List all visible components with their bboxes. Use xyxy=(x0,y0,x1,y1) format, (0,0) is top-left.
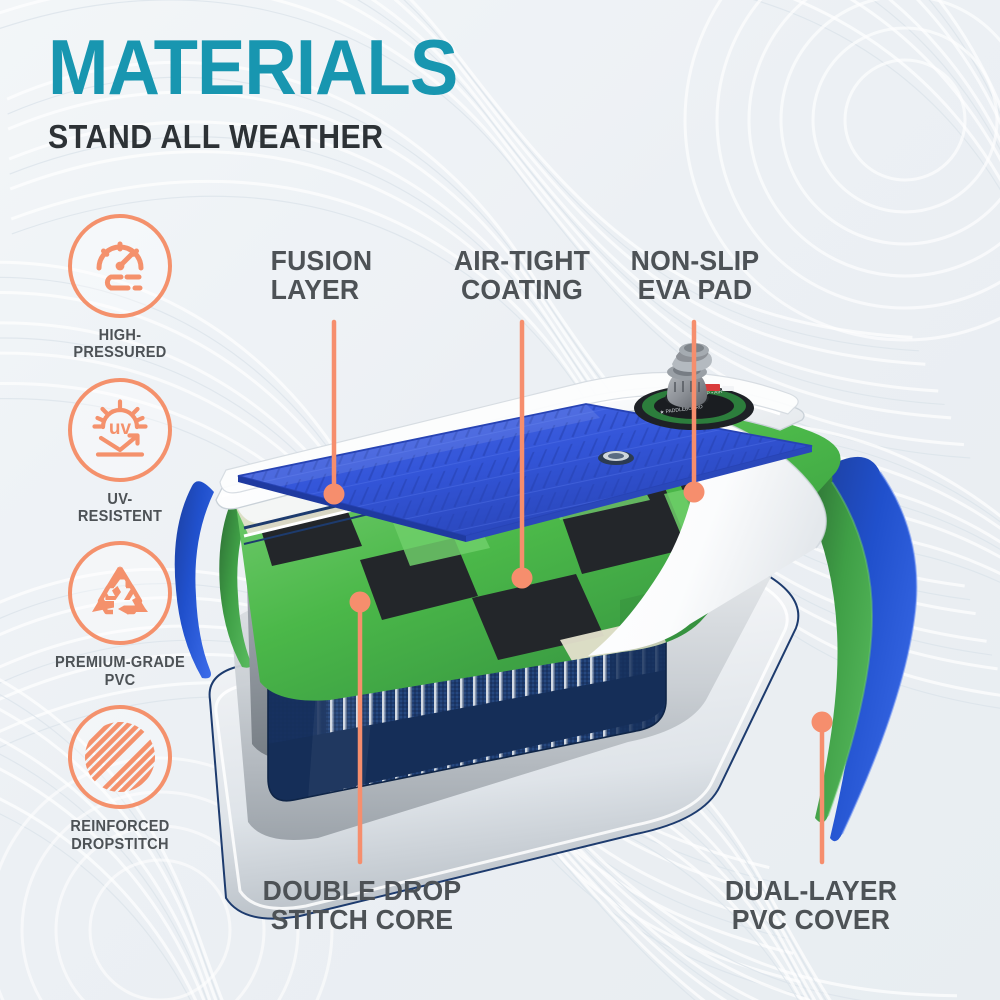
callout-fusion-layer: FUSION LAYER xyxy=(271,246,373,305)
page-title: MATERIALS xyxy=(48,32,457,104)
callout-dual-layer-pvc-cover: DUAL-LAYER PVC COVER xyxy=(706,876,917,935)
feature-item-reinforced-dropstitch: REINFORCED DROPSTITCH xyxy=(44,705,196,853)
feature-rail: HIGH- PRESSURED uv xyxy=(44,214,196,869)
feature-label: REINFORCED DROPSTITCH xyxy=(49,818,192,853)
callout-non-slip-eva-pad: NON-SLIP EVA PAD xyxy=(609,246,782,305)
pressure-gauge-icon xyxy=(89,235,151,297)
header: MATERIALS STAND ALL WEATHER xyxy=(48,32,488,156)
feature-icon-wrapper: uv xyxy=(68,378,172,482)
feature-icon-wrapper xyxy=(68,541,172,645)
feature-item-premium-grade-pvc: PREMIUM-GRADE PVC xyxy=(44,541,196,689)
callout-air-tight-coating: AIR-TIGHT COATING xyxy=(435,246,610,305)
feature-item-high-pressured: HIGH- PRESSURED xyxy=(44,214,196,362)
uv-sun-icon: uv xyxy=(88,398,152,462)
callout-double-drop-stitch-core: DOUBLE DROP STITCH CORE xyxy=(250,876,474,935)
feature-icon-wrapper xyxy=(68,214,172,318)
feature-label: UV- RESISTENT xyxy=(49,491,192,526)
feature-label: HIGH- PRESSURED xyxy=(49,327,192,362)
feature-icon-wrapper xyxy=(68,705,172,809)
recycle-icon xyxy=(88,562,152,624)
dropstitch-hatch-icon xyxy=(83,720,157,794)
feature-item-uv-resistent: uv UV- RESISTENT xyxy=(44,378,196,526)
page-subtitle: STAND ALL WEATHER xyxy=(48,118,453,156)
feature-label: PREMIUM-GRADE PVC xyxy=(49,654,192,689)
